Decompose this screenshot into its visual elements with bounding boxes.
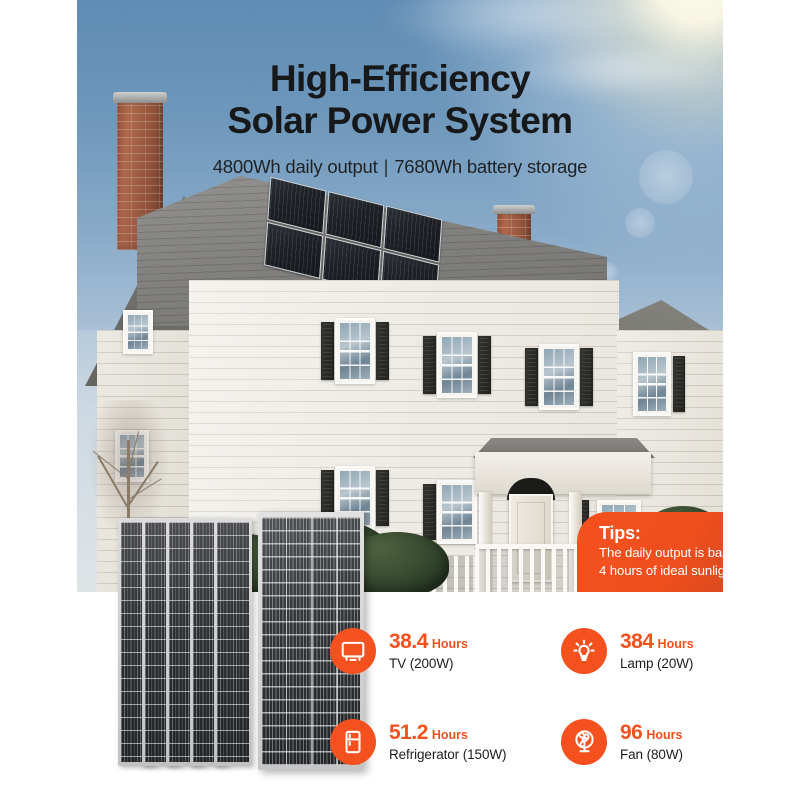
window-right-wing <box>633 352 671 416</box>
window-shutter <box>478 336 491 394</box>
stat-tv: 38.4Hours TV (200W) <box>330 612 549 689</box>
window-shutter <box>321 322 334 380</box>
stat-text: 384Hours Lamp (20W) <box>620 629 694 672</box>
stat-label: Refrigerator (150W) <box>389 747 506 763</box>
chimney-cap-right <box>493 205 535 214</box>
fan-icon <box>561 719 607 765</box>
stat-unit: Hours <box>432 637 468 651</box>
stat-value: 38.4 <box>389 630 428 653</box>
stat-refrigerator: 51.2Hours Refrigerator (150W) <box>330 703 549 780</box>
window-shutter <box>376 322 389 380</box>
hero-text-block: High-Efficiency Solar Power System 4800W… <box>77 0 723 178</box>
page-title: High-Efficiency Solar Power System <box>77 58 723 142</box>
subtitle-battery-storage: 7680Wh battery storage <box>394 156 587 177</box>
window-shutter <box>376 470 389 526</box>
stat-unit: Hours <box>658 637 694 651</box>
hero-photo: High-Efficiency Solar Power System 4800W… <box>77 0 723 592</box>
stat-value-row: 96Hours <box>620 720 683 745</box>
solar-panel-stack <box>118 518 318 786</box>
stat-label: TV (200W) <box>389 656 468 672</box>
stat-lamp: 384Hours Lamp (20W) <box>561 612 780 689</box>
stat-text: 38.4Hours TV (200W) <box>389 629 468 672</box>
porch-roof <box>475 452 651 494</box>
tv-icon <box>330 628 376 674</box>
page-subtitle: 4800Wh daily output|7680Wh battery stora… <box>77 156 723 178</box>
stat-value-row: 51.2Hours <box>389 720 506 745</box>
stat-unit: Hours <box>432 728 468 742</box>
window-upper <box>437 332 477 398</box>
window-shutter <box>423 336 436 394</box>
title-line-1: High-Efficiency <box>77 58 723 100</box>
stat-value: 384 <box>620 630 654 653</box>
window-upper <box>539 344 579 410</box>
stat-value: 96 <box>620 721 642 744</box>
stat-unit: Hours <box>646 728 682 742</box>
subtitle-separator: | <box>378 156 395 177</box>
stat-value: 51.2 <box>389 721 428 744</box>
window-shutter <box>525 348 538 406</box>
tips-heading: Tips: <box>599 523 723 544</box>
tree-branch <box>93 450 129 478</box>
tips-line-1: The daily output is based on <box>599 544 723 562</box>
appliance-runtime-stats: 38.4Hours TV (200W) 384Hours Lamp (20W) <box>330 612 780 780</box>
window-attic <box>123 310 153 354</box>
stat-fan: 96Hours Fan (80W) <box>561 703 780 780</box>
stat-label: Fan (80W) <box>620 747 683 763</box>
window-lower <box>437 480 477 544</box>
window-shutter <box>423 484 436 540</box>
window-upper <box>335 318 375 384</box>
stat-text: 96Hours Fan (80W) <box>620 720 683 763</box>
stat-value-row: 384Hours <box>620 629 694 654</box>
stat-label: Lamp (20W) <box>620 656 694 672</box>
solar-panel <box>214 518 252 766</box>
subtitle-daily-output: 4800Wh daily output <box>213 156 378 177</box>
tips-callout: Tips: The daily output is based on 4 hou… <box>577 512 723 592</box>
window-shutter <box>673 356 685 412</box>
refrigerator-icon <box>330 719 376 765</box>
window-shutter <box>580 348 593 406</box>
stat-value-row: 38.4Hours <box>389 629 468 654</box>
tree-branch <box>97 456 128 509</box>
stat-text: 51.2Hours Refrigerator (150W) <box>389 720 506 763</box>
title-line-2: Solar Power System <box>77 100 723 142</box>
lightbulb-icon <box>561 628 607 674</box>
tips-line-2: 4 hours of ideal sunlight <box>599 562 723 580</box>
